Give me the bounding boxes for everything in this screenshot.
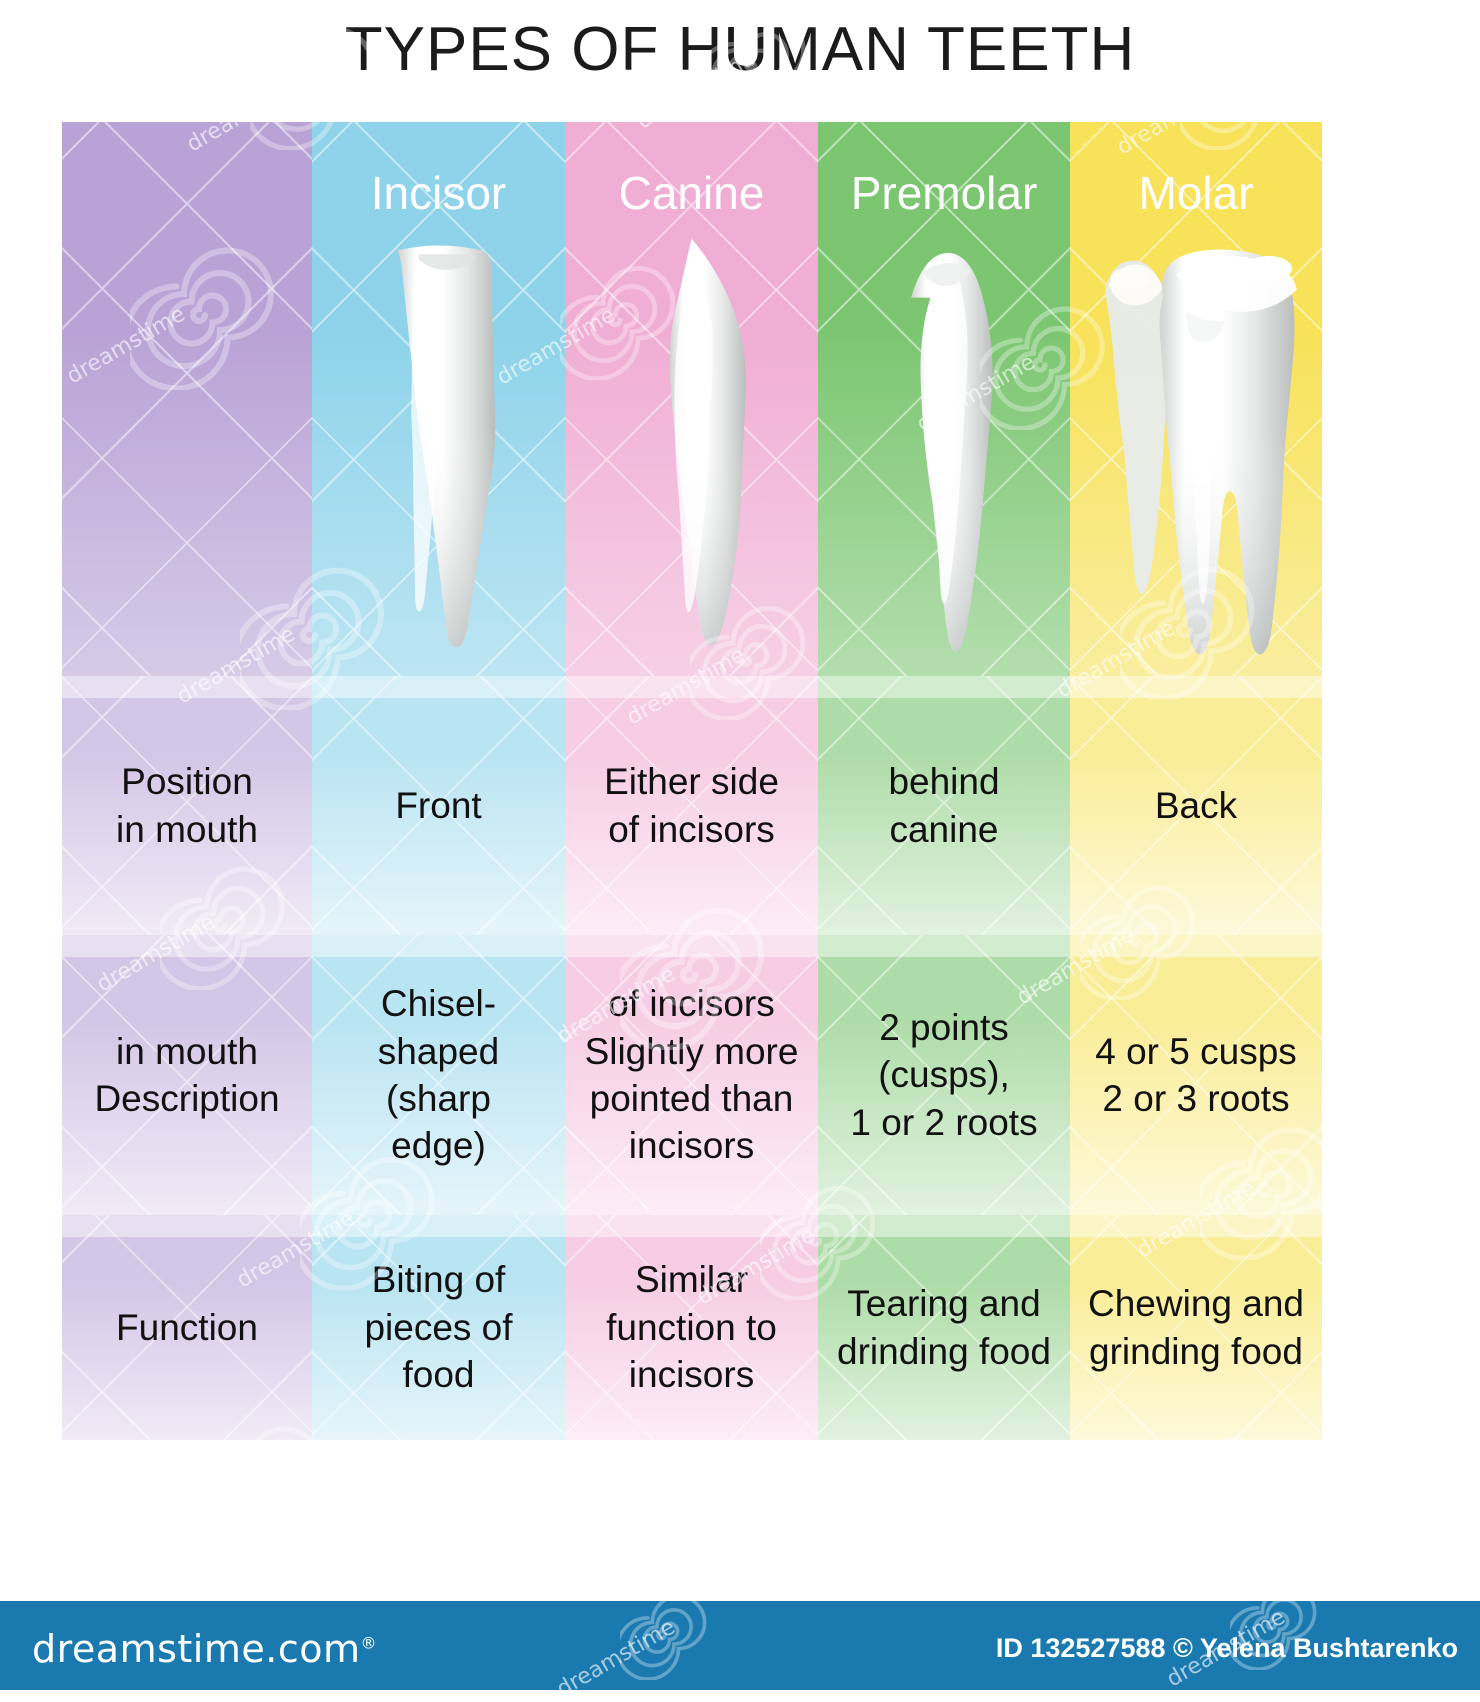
column-header-premolar: Premolar	[818, 166, 1070, 220]
row-top-strip	[312, 676, 565, 698]
cell-text-premolar: Tearing anddrinding food	[831, 1280, 1057, 1375]
row-top-strip	[565, 1215, 818, 1237]
spiral-icon	[1150, 1430, 1280, 1564]
cell-text-canine: of incisorsSlightly morepointed thaninci…	[579, 980, 805, 1169]
row-label-text: Function	[108, 1304, 266, 1351]
logo-text: dreamstime.com	[32, 1627, 360, 1671]
header-cell-molar: Molar	[1070, 122, 1322, 676]
cell-text-canine: Similarfunction toincisors	[600, 1256, 783, 1398]
dreamstime-logo: dreamstime.com®	[32, 1627, 377, 1671]
cell-text-molar: Back	[1149, 782, 1243, 829]
data-cell-canine: Similarfunction toincisors	[565, 1215, 818, 1440]
data-cell-premolar: Tearing anddrinding food	[818, 1215, 1070, 1440]
header-cell-canine: Canine	[565, 122, 818, 676]
row-top-strip	[565, 935, 818, 957]
cell-text-incisor: Biting ofpieces offood	[358, 1256, 518, 1398]
row-label-cell: Positionin mouth	[62, 676, 312, 935]
watermark-text: dreamstime	[133, 1469, 260, 1557]
data-cell-molar: Back	[1070, 676, 1322, 935]
watermark-text: dreamstime	[1083, 1479, 1210, 1567]
image-credit: ID 132527588 © Yelena Bushtarenko	[996, 1633, 1458, 1664]
row-top-strip	[62, 1215, 312, 1237]
column-header-molar: Molar	[1070, 166, 1322, 220]
data-cell-canine: Either sideof incisors	[565, 676, 818, 935]
data-cell-molar: 4 or 5 cusps2 or 3 roots	[1070, 935, 1322, 1215]
watermark-hatch	[62, 122, 312, 676]
footer-bar: dreamstime.com® ID 132527588 © Yelena Bu…	[0, 1601, 1480, 1690]
column-header-incisor: Incisor	[312, 166, 565, 220]
registered-mark: ®	[360, 1633, 377, 1652]
row-top-strip	[565, 676, 818, 698]
tooth-illustration-incisor	[312, 227, 565, 676]
tooth-illustration-canine	[565, 227, 818, 676]
data-cell-incisor: Chisel-shaped(sharpedge)	[312, 935, 565, 1215]
row-label-text: Positionin mouth	[108, 758, 266, 853]
spiral-icon	[200, 1420, 330, 1554]
row-label-text: in mouthDescription	[86, 1028, 287, 1123]
cell-text-molar: Chewing andgrinding food	[1082, 1280, 1310, 1375]
row-label-cell: Function	[62, 1215, 312, 1440]
row-top-strip	[818, 1215, 1070, 1237]
header-cell-empty	[62, 122, 312, 676]
column-header-canine: Canine	[565, 166, 818, 220]
tooth-illustration-molar	[1070, 227, 1322, 676]
cell-text-canine: Either sideof incisors	[598, 758, 785, 853]
cell-text-premolar: behindcanine	[882, 758, 1005, 853]
tooth-illustration-premolar	[818, 227, 1070, 676]
spiral-icon	[680, 1440, 800, 1564]
data-cell-incisor: Front	[312, 676, 565, 935]
row-top-strip	[1070, 1215, 1322, 1237]
header-cell-premolar: Premolar	[818, 122, 1070, 676]
teeth-comparison-table: IncisorCaninePremolarMolarPositionin mou…	[62, 122, 1322, 1440]
cell-text-molar: 4 or 5 cusps2 or 3 roots	[1089, 1028, 1303, 1123]
row-top-strip	[62, 935, 312, 957]
row-top-strip	[312, 935, 565, 957]
row-top-strip	[1070, 935, 1322, 957]
row-top-strip	[1070, 676, 1322, 698]
data-cell-premolar: 2 points(cusps),1 or 2 roots	[818, 935, 1070, 1215]
page-title: TYPES OF HUMAN TEETH	[0, 14, 1480, 85]
cell-text-premolar: 2 points(cusps),1 or 2 roots	[844, 1004, 1043, 1146]
data-cell-incisor: Biting ofpieces offood	[312, 1215, 565, 1440]
row-top-strip	[312, 1215, 565, 1237]
cell-text-incisor: Front	[389, 782, 487, 829]
row-top-strip	[818, 935, 1070, 957]
row-top-strip	[818, 676, 1070, 698]
data-cell-molar: Chewing andgrinding food	[1070, 1215, 1322, 1440]
header-cell-incisor: Incisor	[312, 122, 565, 676]
data-cell-canine: of incisorsSlightly morepointed thaninci…	[565, 935, 818, 1215]
data-cell-premolar: behindcanine	[818, 676, 1070, 935]
watermark-text: dreamstime	[613, 1483, 740, 1571]
cell-text-incisor: Chisel-shaped(sharpedge)	[372, 980, 505, 1169]
row-label-cell: in mouthDescription	[62, 935, 312, 1215]
row-top-strip	[62, 676, 312, 698]
